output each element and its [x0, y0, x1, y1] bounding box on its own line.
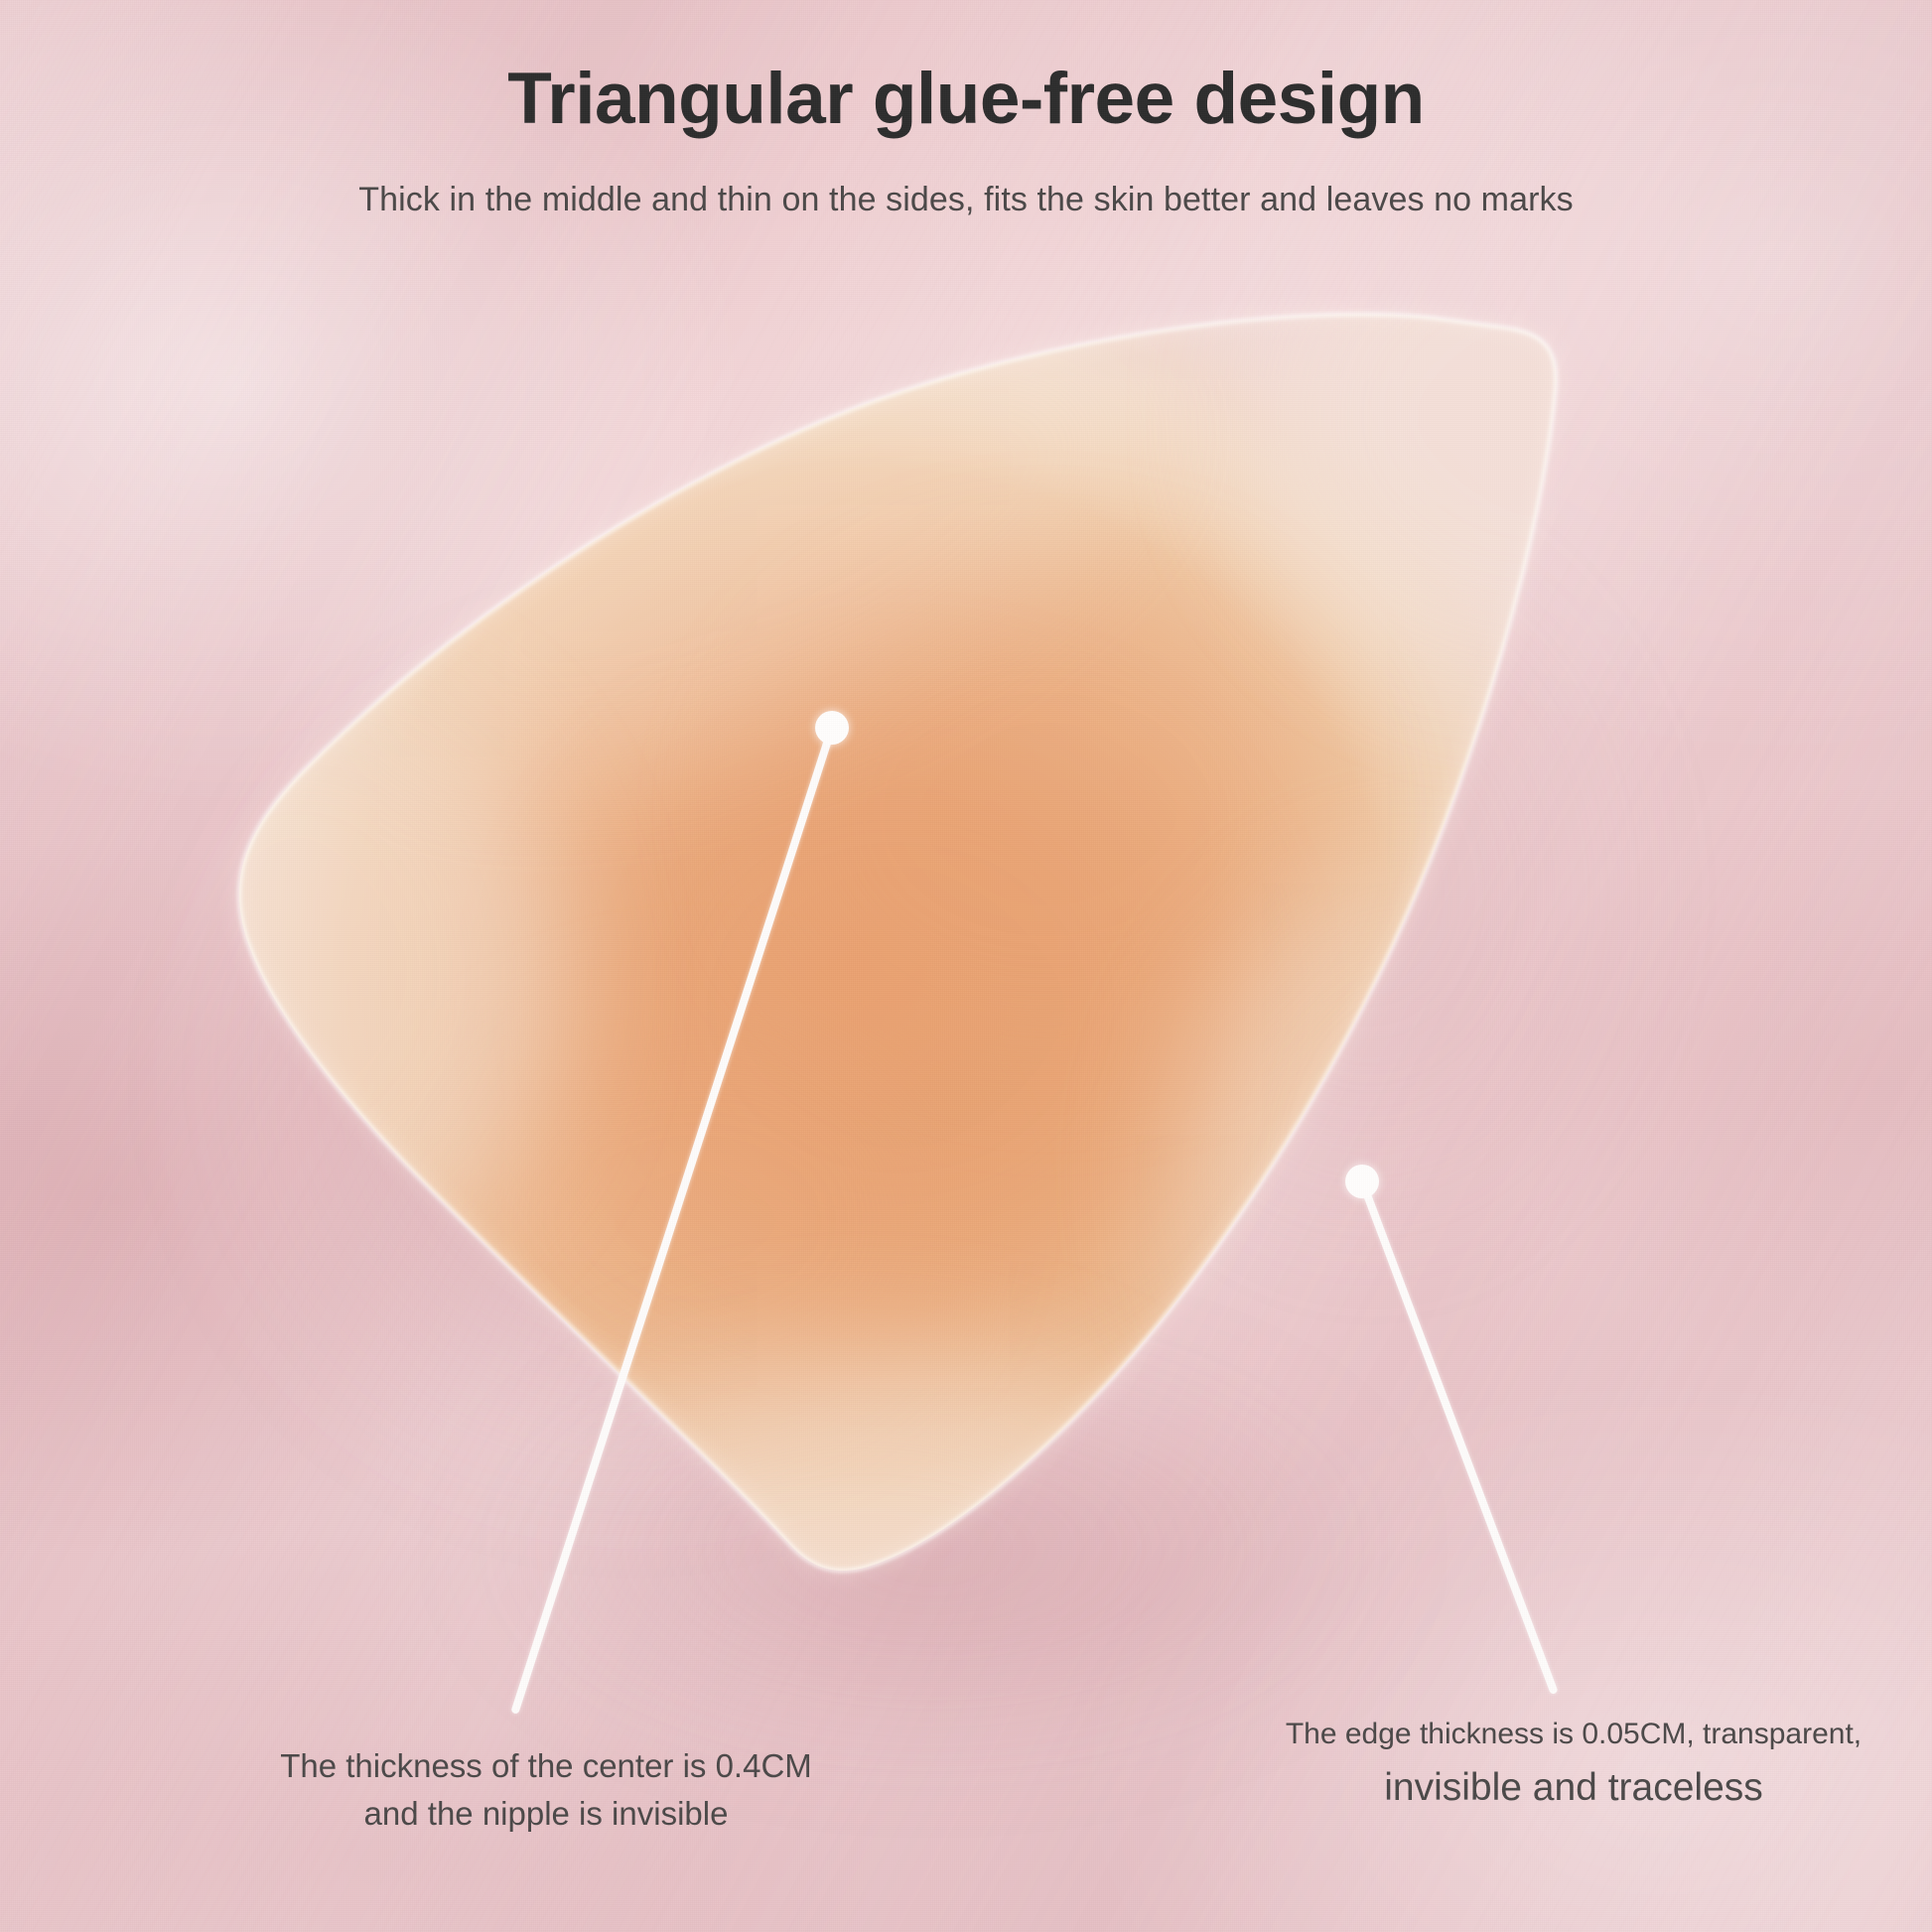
background-grain — [0, 0, 1932, 1932]
product-feature-image: Triangular glue-free design Thick in the… — [0, 0, 1932, 1932]
